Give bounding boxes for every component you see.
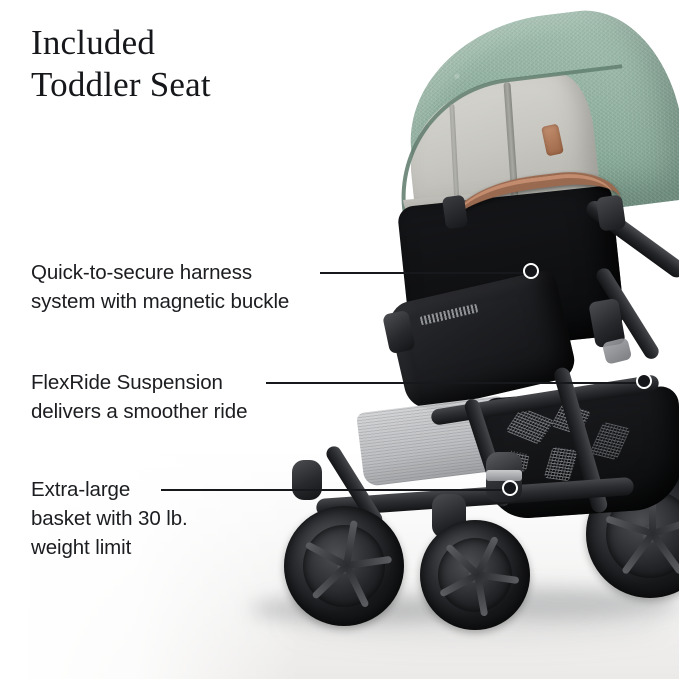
callout-harness-text: Quick-to-secure harness system with magn…: [31, 258, 331, 316]
leader-line-harness: [320, 272, 528, 274]
wheel-spoke: [346, 556, 392, 569]
callout-suspension: FlexRide Suspension delivers a smoother …: [31, 368, 331, 426]
page-title-line1: Included: [31, 23, 155, 62]
left-margin-mask: [0, 0, 28, 679]
bumper-mount-right: [596, 194, 626, 231]
front-wheel-right: [420, 520, 530, 630]
leader-line-basket: [161, 489, 507, 491]
bumper-mount-left: [442, 195, 468, 230]
suspension-ring: [486, 470, 522, 481]
wheel-spoke: [311, 563, 349, 600]
wheel-spoke: [649, 532, 679, 575]
frame-accent: [602, 337, 633, 365]
infographic-canvas: Included Toddler Seat Quick-to-secure ha…: [0, 0, 679, 679]
page-title: Included Toddler Seat: [31, 22, 361, 106]
wheel-spoke: [474, 574, 488, 616]
wheel-spoke: [445, 543, 480, 577]
wheel-spoke: [477, 572, 519, 585]
callout-suspension-text: FlexRide Suspension delivers a smoother …: [31, 368, 331, 426]
wheel-spoke: [621, 532, 655, 575]
leader-line-suspension: [266, 382, 641, 384]
callout-harness: Quick-to-secure harness system with magn…: [31, 258, 331, 316]
wheel-spoke: [343, 564, 369, 608]
page-title-line2: Toddler Seat: [31, 64, 361, 106]
